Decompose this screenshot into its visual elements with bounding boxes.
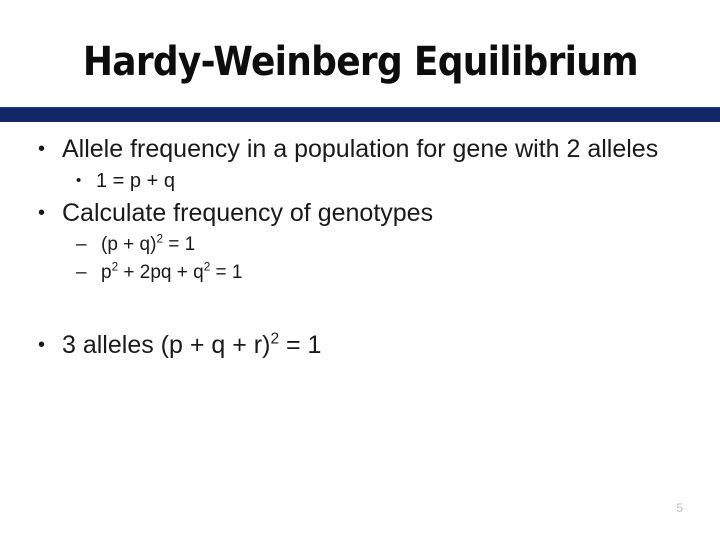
- bullet-dot-icon: •: [38, 197, 62, 229]
- slide-title-area: Hardy-Weinberg Equilibrium: [0, 36, 720, 88]
- list-item: • 3 alleles (p + q + r)2 = 1: [0, 329, 720, 361]
- page-title: Hardy-Weinberg Equilibrium: [82, 36, 637, 88]
- bullet-dot-icon: •: [76, 167, 96, 195]
- list-item: – (p + q)2 = 1: [0, 231, 720, 258]
- equation-part: 3 alleles (p + q + r): [62, 331, 270, 359]
- equation-part: = 1: [210, 262, 242, 283]
- bullet-dash-icon: –: [76, 259, 101, 286]
- blank-line-spacer: [0, 287, 720, 329]
- equation-text: p2 + 2pq + q2 = 1: [101, 259, 720, 286]
- equation-part: (p + q): [101, 234, 156, 255]
- list-item: • 1 = p + q: [0, 167, 720, 195]
- list-item: • Calculate frequency of genotypes: [0, 197, 720, 229]
- equation-part: = 1: [163, 234, 195, 255]
- page-number: 5: [676, 501, 683, 515]
- title-divider-bar: [0, 107, 720, 122]
- bullet-dash-icon: –: [76, 231, 101, 258]
- equation-part: + 2pq + q: [118, 262, 204, 283]
- bullet-dot-icon: •: [38, 329, 62, 361]
- equation-part: p: [101, 262, 112, 283]
- list-item: • Allele frequency in a population for g…: [0, 133, 720, 165]
- list-item-label: 1 = p + q: [96, 167, 720, 195]
- slide-canvas: Hardy-Weinberg Equilibrium • Allele freq…: [0, 0, 720, 539]
- slide-body: • Allele frequency in a population for g…: [0, 133, 720, 363]
- list-item-label: Allele frequency in a population for gen…: [62, 133, 670, 165]
- list-item-label: Calculate frequency of genotypes: [62, 197, 670, 229]
- equation-part: = 1: [279, 331, 321, 359]
- equation-text: 3 alleles (p + q + r)2 = 1: [62, 329, 670, 361]
- bullet-dot-icon: •: [38, 133, 62, 165]
- equation-text: (p + q)2 = 1: [101, 231, 720, 258]
- equation-superscript: 2: [270, 331, 279, 348]
- list-item: – p2 + 2pq + q2 = 1: [0, 259, 720, 286]
